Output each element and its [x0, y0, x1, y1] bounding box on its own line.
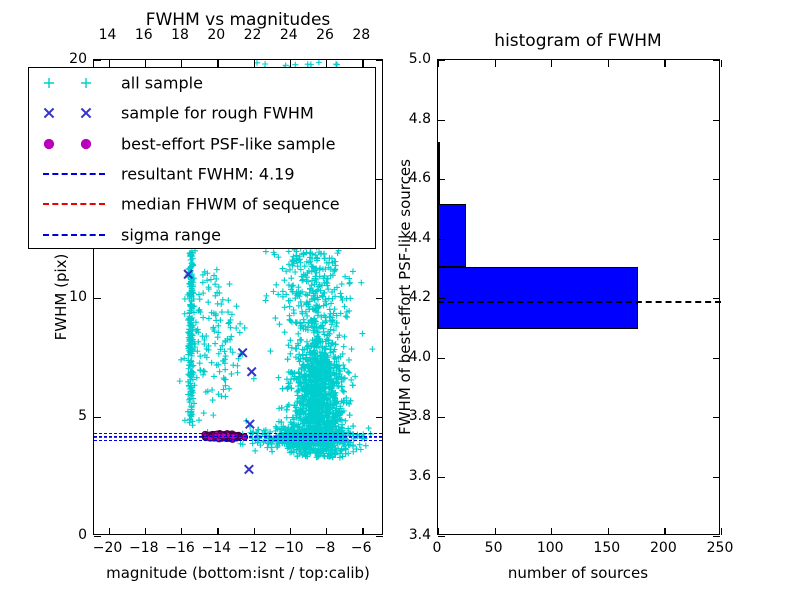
axis-tick [495, 60, 496, 67]
axis-tick [376, 179, 383, 180]
axis-tick-top [109, 60, 110, 67]
axis-tick [608, 60, 609, 67]
axis-tick [713, 120, 720, 121]
axis-tick [721, 528, 722, 535]
axis-tick [376, 298, 383, 299]
tick-label-top: 16 [135, 27, 153, 43]
median-fwhm-line [94, 437, 382, 438]
tick-label-top: 14 [99, 27, 117, 43]
axis-tick [362, 528, 363, 535]
axis-tick [326, 528, 327, 535]
axis-tick [664, 60, 665, 67]
tick-label-bottom: −16 [165, 540, 195, 556]
legend-item[interactable]: sample for rough FWHM [29, 98, 375, 128]
tick-label-right-x: 150 [593, 540, 620, 556]
axis-tick-top [181, 60, 182, 67]
axis-tick [438, 536, 445, 537]
legend-item[interactable]: all sample [29, 68, 375, 98]
axis-tick-top [254, 60, 255, 67]
axis-tick [721, 60, 722, 67]
legend-item[interactable]: best-effort PSF-like sample [29, 129, 375, 159]
tick-label-left-y: 5 [78, 408, 87, 424]
axis-tick [438, 477, 445, 478]
tick-label-right-x: 200 [650, 540, 677, 556]
right-xaxis-label: number of sources [508, 564, 648, 582]
tick-label-right-x: 50 [485, 540, 503, 556]
axis-tick [713, 298, 720, 299]
histogram-bar[interactable] [438, 142, 440, 204]
plus-marker-icon [41, 75, 57, 91]
tick-label-top: 20 [207, 27, 225, 43]
plus-marker-icon [78, 75, 94, 91]
figure-canvas: FWHM vs magnitudes 1416182022242628 −20−… [0, 0, 800, 600]
axis-tick [376, 60, 383, 61]
axis-tick [109, 528, 110, 535]
axis-tick [713, 477, 720, 478]
legend-item-label: best-effort PSF-like sample [121, 134, 335, 153]
tick-label-bottom: −10 [274, 540, 304, 556]
tick-label-bottom: −20 [93, 540, 123, 556]
axis-tick-top [326, 60, 327, 67]
legend-item-label: resultant FWHM: 4.19 [121, 165, 295, 184]
histogram-bar[interactable] [438, 267, 638, 329]
axis-tick [438, 60, 445, 61]
axis-tick [94, 536, 101, 537]
tick-label-left-y: 0 [78, 527, 87, 543]
axis-tick [145, 528, 146, 535]
histogram-bar[interactable] [438, 204, 466, 266]
tick-label-right-y: 3.6 [409, 468, 431, 484]
tick-label-top: 24 [280, 27, 298, 43]
axis-tick [713, 239, 720, 240]
legend-item[interactable]: sigma range [29, 220, 375, 250]
left-xaxis-label: magnitude (bottom:isnt / top:calib) [106, 564, 370, 582]
axis-tick [438, 528, 439, 535]
axis-tick [551, 60, 552, 67]
axis-tick [713, 179, 720, 180]
dashed-line-icon [43, 203, 105, 205]
tick-label-bottom: −14 [201, 540, 231, 556]
axis-tick [713, 536, 720, 537]
right-panel-title: histogram of FWHM [494, 31, 661, 51]
sigma-upper-line [94, 433, 382, 434]
axis-tick [438, 239, 445, 240]
axis-tick [94, 298, 101, 299]
histogram-plot-area[interactable] [437, 59, 720, 535]
axis-tick-top [145, 60, 146, 67]
cross-marker-icon [78, 105, 94, 121]
legend-item-label: median FHWM of sequence [121, 195, 340, 214]
tick-label-bottom: −12 [238, 540, 268, 556]
right-yaxis-label: FWHM of best-effort PSF-like sources [396, 159, 414, 435]
tick-label-top: 28 [352, 27, 370, 43]
median-dashed-line [438, 301, 721, 303]
tick-label-right-x: 0 [433, 540, 442, 556]
axis-tick [438, 179, 445, 180]
axis-tick [376, 536, 383, 537]
tick-label-left-y: 20 [69, 51, 87, 67]
sigma-lower-line [94, 440, 382, 441]
tick-label-right-x: 250 [707, 540, 734, 556]
axis-tick [608, 528, 609, 535]
tick-label-top: 18 [171, 27, 189, 43]
legend-item[interactable]: resultant FWHM: 4.19 [29, 159, 375, 189]
axis-tick [290, 528, 291, 535]
tick-label-top: 22 [244, 27, 262, 43]
tick-label-right-y: 4.8 [409, 111, 431, 127]
tick-label-bottom: −8 [315, 540, 336, 556]
tick-label-bottom: −18 [129, 540, 159, 556]
axis-tick [713, 358, 720, 359]
legend-item-label: all sample [121, 74, 203, 93]
axis-tick [438, 417, 445, 418]
tick-label-right-x: 100 [537, 540, 564, 556]
legend-item-label: sigma range [121, 225, 221, 244]
dashed-line-icon [43, 173, 105, 175]
tick-label-right-y: 3.4 [409, 527, 431, 543]
axis-tick-top [217, 60, 218, 67]
dot-marker-icon [41, 136, 57, 152]
legend[interactable]: all samplesample for rough FWHMbest-effo… [28, 67, 376, 249]
axis-tick [181, 528, 182, 535]
axis-tick [713, 417, 720, 418]
histogram-bars-layer [438, 60, 719, 534]
dashdot-line-icon [43, 234, 105, 236]
axis-tick [94, 60, 101, 61]
legend-item-label: sample for rough FWHM [121, 104, 314, 123]
axis-tick [551, 528, 552, 535]
axis-tick [664, 528, 665, 535]
cross-marker-icon [41, 105, 57, 121]
tick-label-left-y: 10 [69, 289, 87, 305]
axis-tick [438, 358, 445, 359]
axis-tick-top [362, 60, 363, 67]
axis-tick [254, 528, 255, 535]
axis-tick [438, 120, 445, 121]
axis-tick [217, 528, 218, 535]
legend-item[interactable]: median FHWM of sequence [29, 189, 375, 219]
axis-tick [495, 528, 496, 535]
axis-tick [94, 417, 101, 418]
left-yaxis-label: FWHM (pix) [52, 254, 70, 341]
dot-marker-icon [78, 136, 94, 152]
axis-tick [438, 298, 445, 299]
tick-label-top: 26 [316, 27, 334, 43]
axis-tick-top [290, 60, 291, 67]
axis-tick [376, 417, 383, 418]
tick-label-right-y: 5.0 [409, 51, 431, 67]
axis-tick [713, 60, 720, 61]
tick-label-bottom: −6 [351, 540, 372, 556]
